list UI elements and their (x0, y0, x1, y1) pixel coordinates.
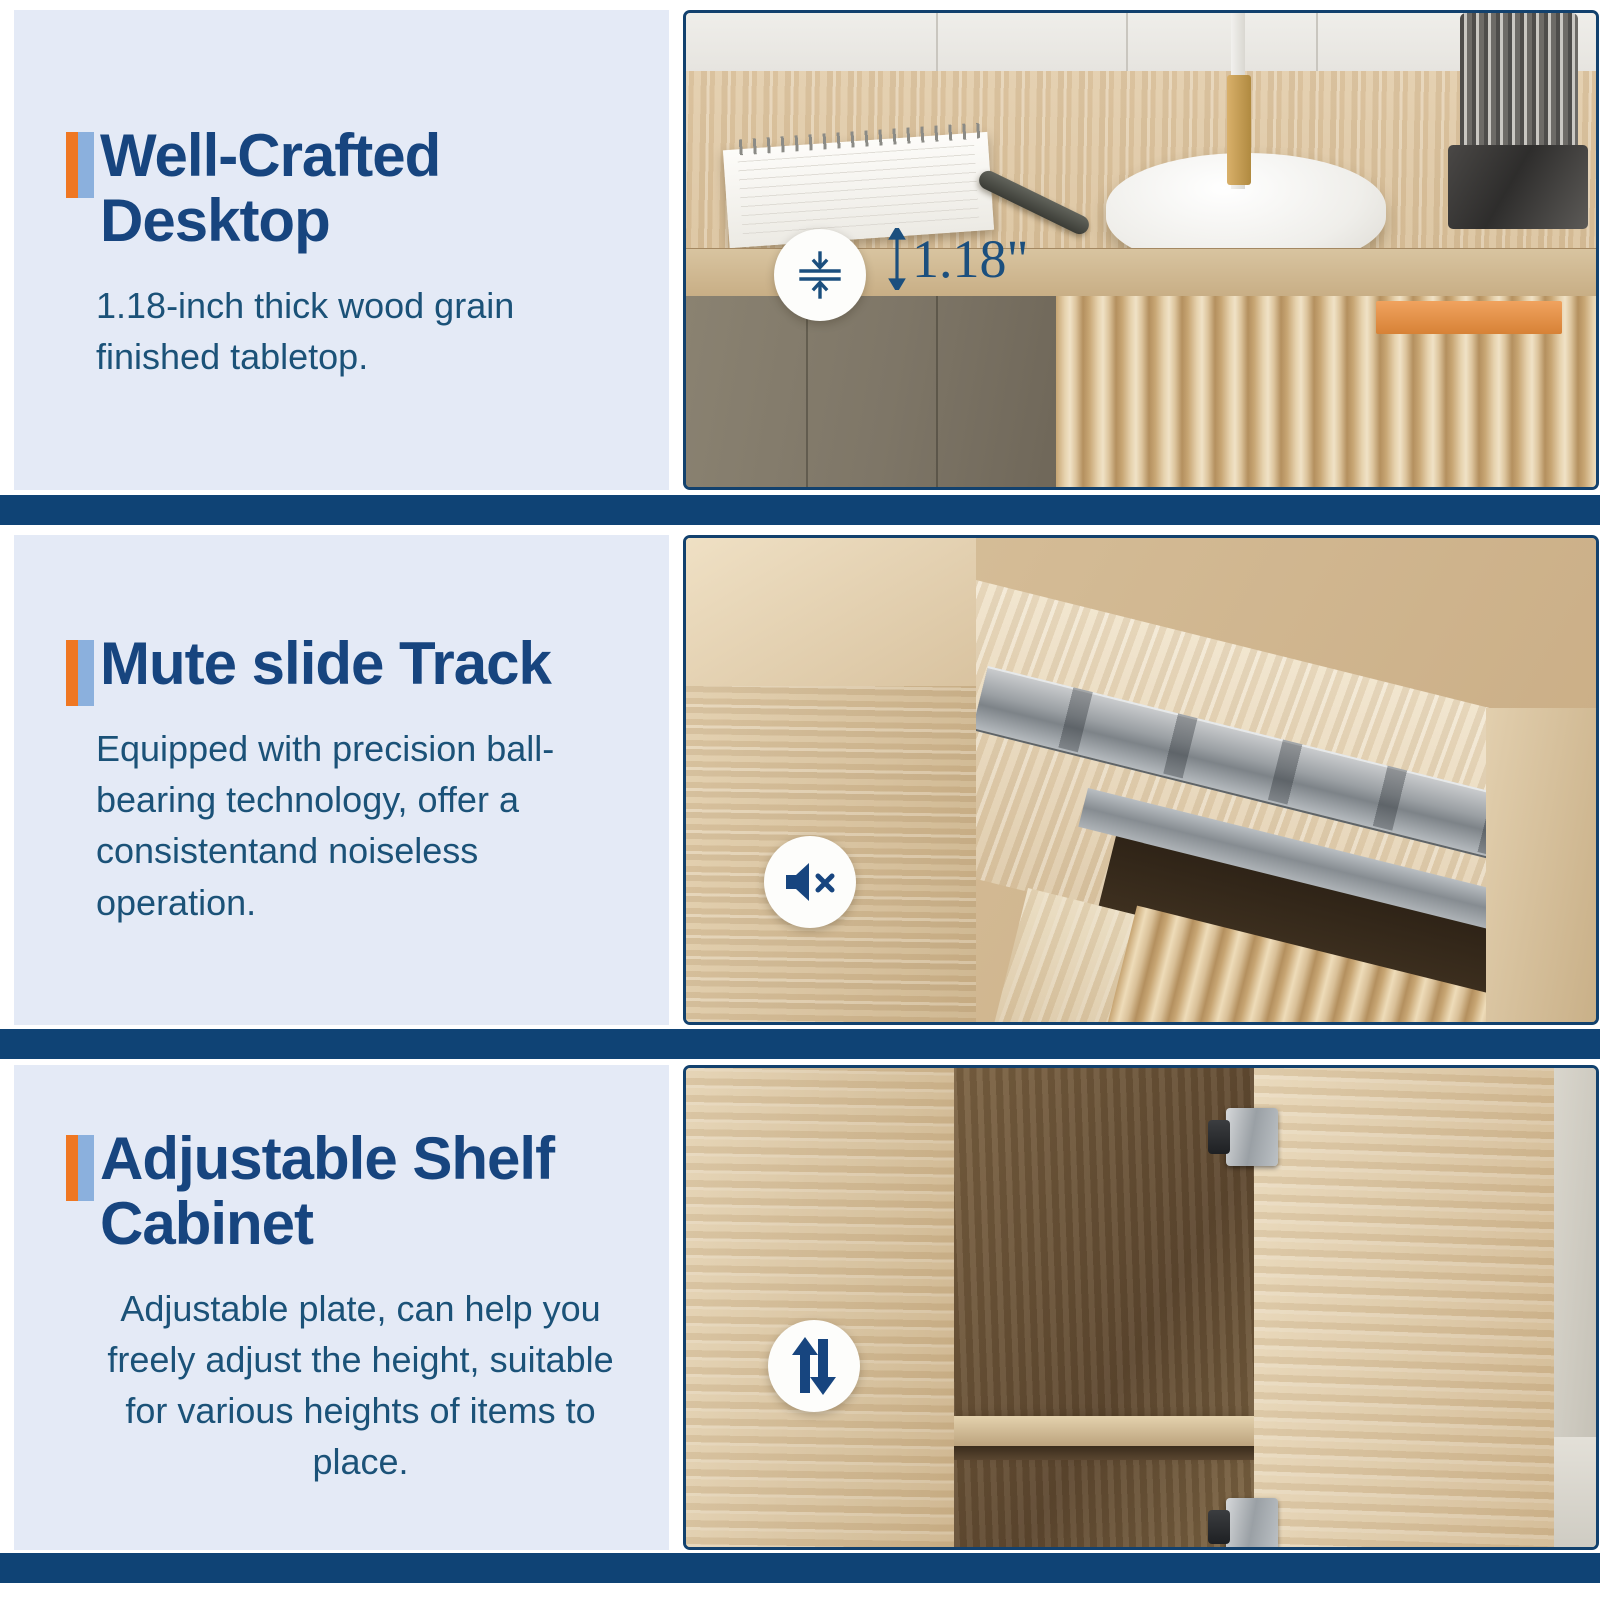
accent-bar-orange-icon (66, 640, 78, 706)
feature-1-photo: 1.18" (683, 10, 1599, 490)
accent-bar-blue-icon (78, 1135, 94, 1201)
feature-2-heading-wrap: Mute slide Track (66, 632, 627, 697)
mute-icon-badge (764, 836, 856, 928)
thickness-icon (793, 248, 847, 302)
feature-1-text-pane: Well-Crafted Desktop 1.18-inch thick woo… (14, 10, 669, 490)
cabinet-left-door (686, 1068, 954, 1547)
feature-3-photo (683, 1065, 1599, 1550)
cabinet-body (686, 296, 1056, 487)
cabinet-seam (806, 296, 808, 487)
vase-object (1460, 13, 1578, 153)
adjustable-shelf (954, 1416, 1254, 1446)
feature-block-adjustable-shelf-cabinet: Adjustable Shelf Cabinet Adjustable plat… (0, 1065, 1600, 1550)
cabinet-hinge-bottom (1226, 1498, 1278, 1550)
drawer-face-region (968, 538, 1596, 1022)
divider-bar-2 (0, 1029, 1600, 1059)
cabinet-hinge-top (1226, 1108, 1278, 1166)
infographic-sheet: Well-Crafted Desktop 1.18-inch thick woo… (0, 0, 1600, 1600)
accent-bar-blue-icon (78, 640, 94, 706)
feature-2-body: Equipped with precision ball-bearing tec… (66, 723, 627, 927)
feature-2-heading: Mute slide Track (66, 632, 627, 697)
feature-1-body: 1.18-inch thick wood grain finished tabl… (66, 280, 627, 382)
feature-1-heading-wrap: Well-Crafted Desktop (66, 124, 627, 254)
double-arrow-vertical-icon (886, 228, 908, 290)
feature-3-body: Adjustable plate, can help you freely ad… (66, 1283, 627, 1487)
lamp-gold-collar (1227, 75, 1251, 185)
cabinet-seam (936, 296, 938, 487)
drawer-handle (1376, 301, 1562, 334)
vase-marble-base (1448, 145, 1588, 229)
accent-bar-orange-icon (66, 1135, 78, 1201)
divider-bar-1 (0, 495, 1600, 525)
thickness-icon-badge (774, 229, 866, 321)
divider-bar-3 (0, 1553, 1600, 1583)
thickness-annotation: 1.18" (886, 228, 1029, 290)
wall-seam (1126, 13, 1128, 73)
accent-bar-orange-icon (66, 132, 78, 198)
adjustable-shelf-underside (954, 1446, 1254, 1460)
accent-bar-blue-icon (78, 132, 94, 198)
feature-3-heading: Adjustable Shelf Cabinet (66, 1127, 627, 1257)
cabinet-right-door (1254, 1068, 1554, 1547)
notebook-lines (738, 145, 980, 235)
thickness-value: 1.18" (912, 228, 1029, 290)
feature-1-heading: Well-Crafted Desktop (66, 124, 627, 254)
cabinet-top-bevel (686, 538, 976, 686)
adjust-height-icon-badge (768, 1320, 860, 1412)
feature-block-well-crafted-desktop: Well-Crafted Desktop 1.18-inch thick woo… (0, 10, 1600, 490)
up-down-arrows-icon (788, 1337, 840, 1395)
feature-2-photo (683, 535, 1599, 1025)
cabinet-right-post (1486, 708, 1596, 1022)
feature-3-text-pane: Adjustable Shelf Cabinet Adjustable plat… (14, 1065, 669, 1550)
wall-seam (1316, 13, 1318, 73)
feature-block-mute-slide-track: Mute slide Track Equipped with precision… (0, 535, 1600, 1025)
room-baseboard (1554, 1437, 1596, 1547)
speaker-mute-icon (782, 859, 838, 905)
wall-seam (936, 13, 938, 73)
feature-3-heading-wrap: Adjustable Shelf Cabinet (66, 1127, 627, 1257)
feature-2-text-pane: Mute slide Track Equipped with precision… (14, 535, 669, 1025)
